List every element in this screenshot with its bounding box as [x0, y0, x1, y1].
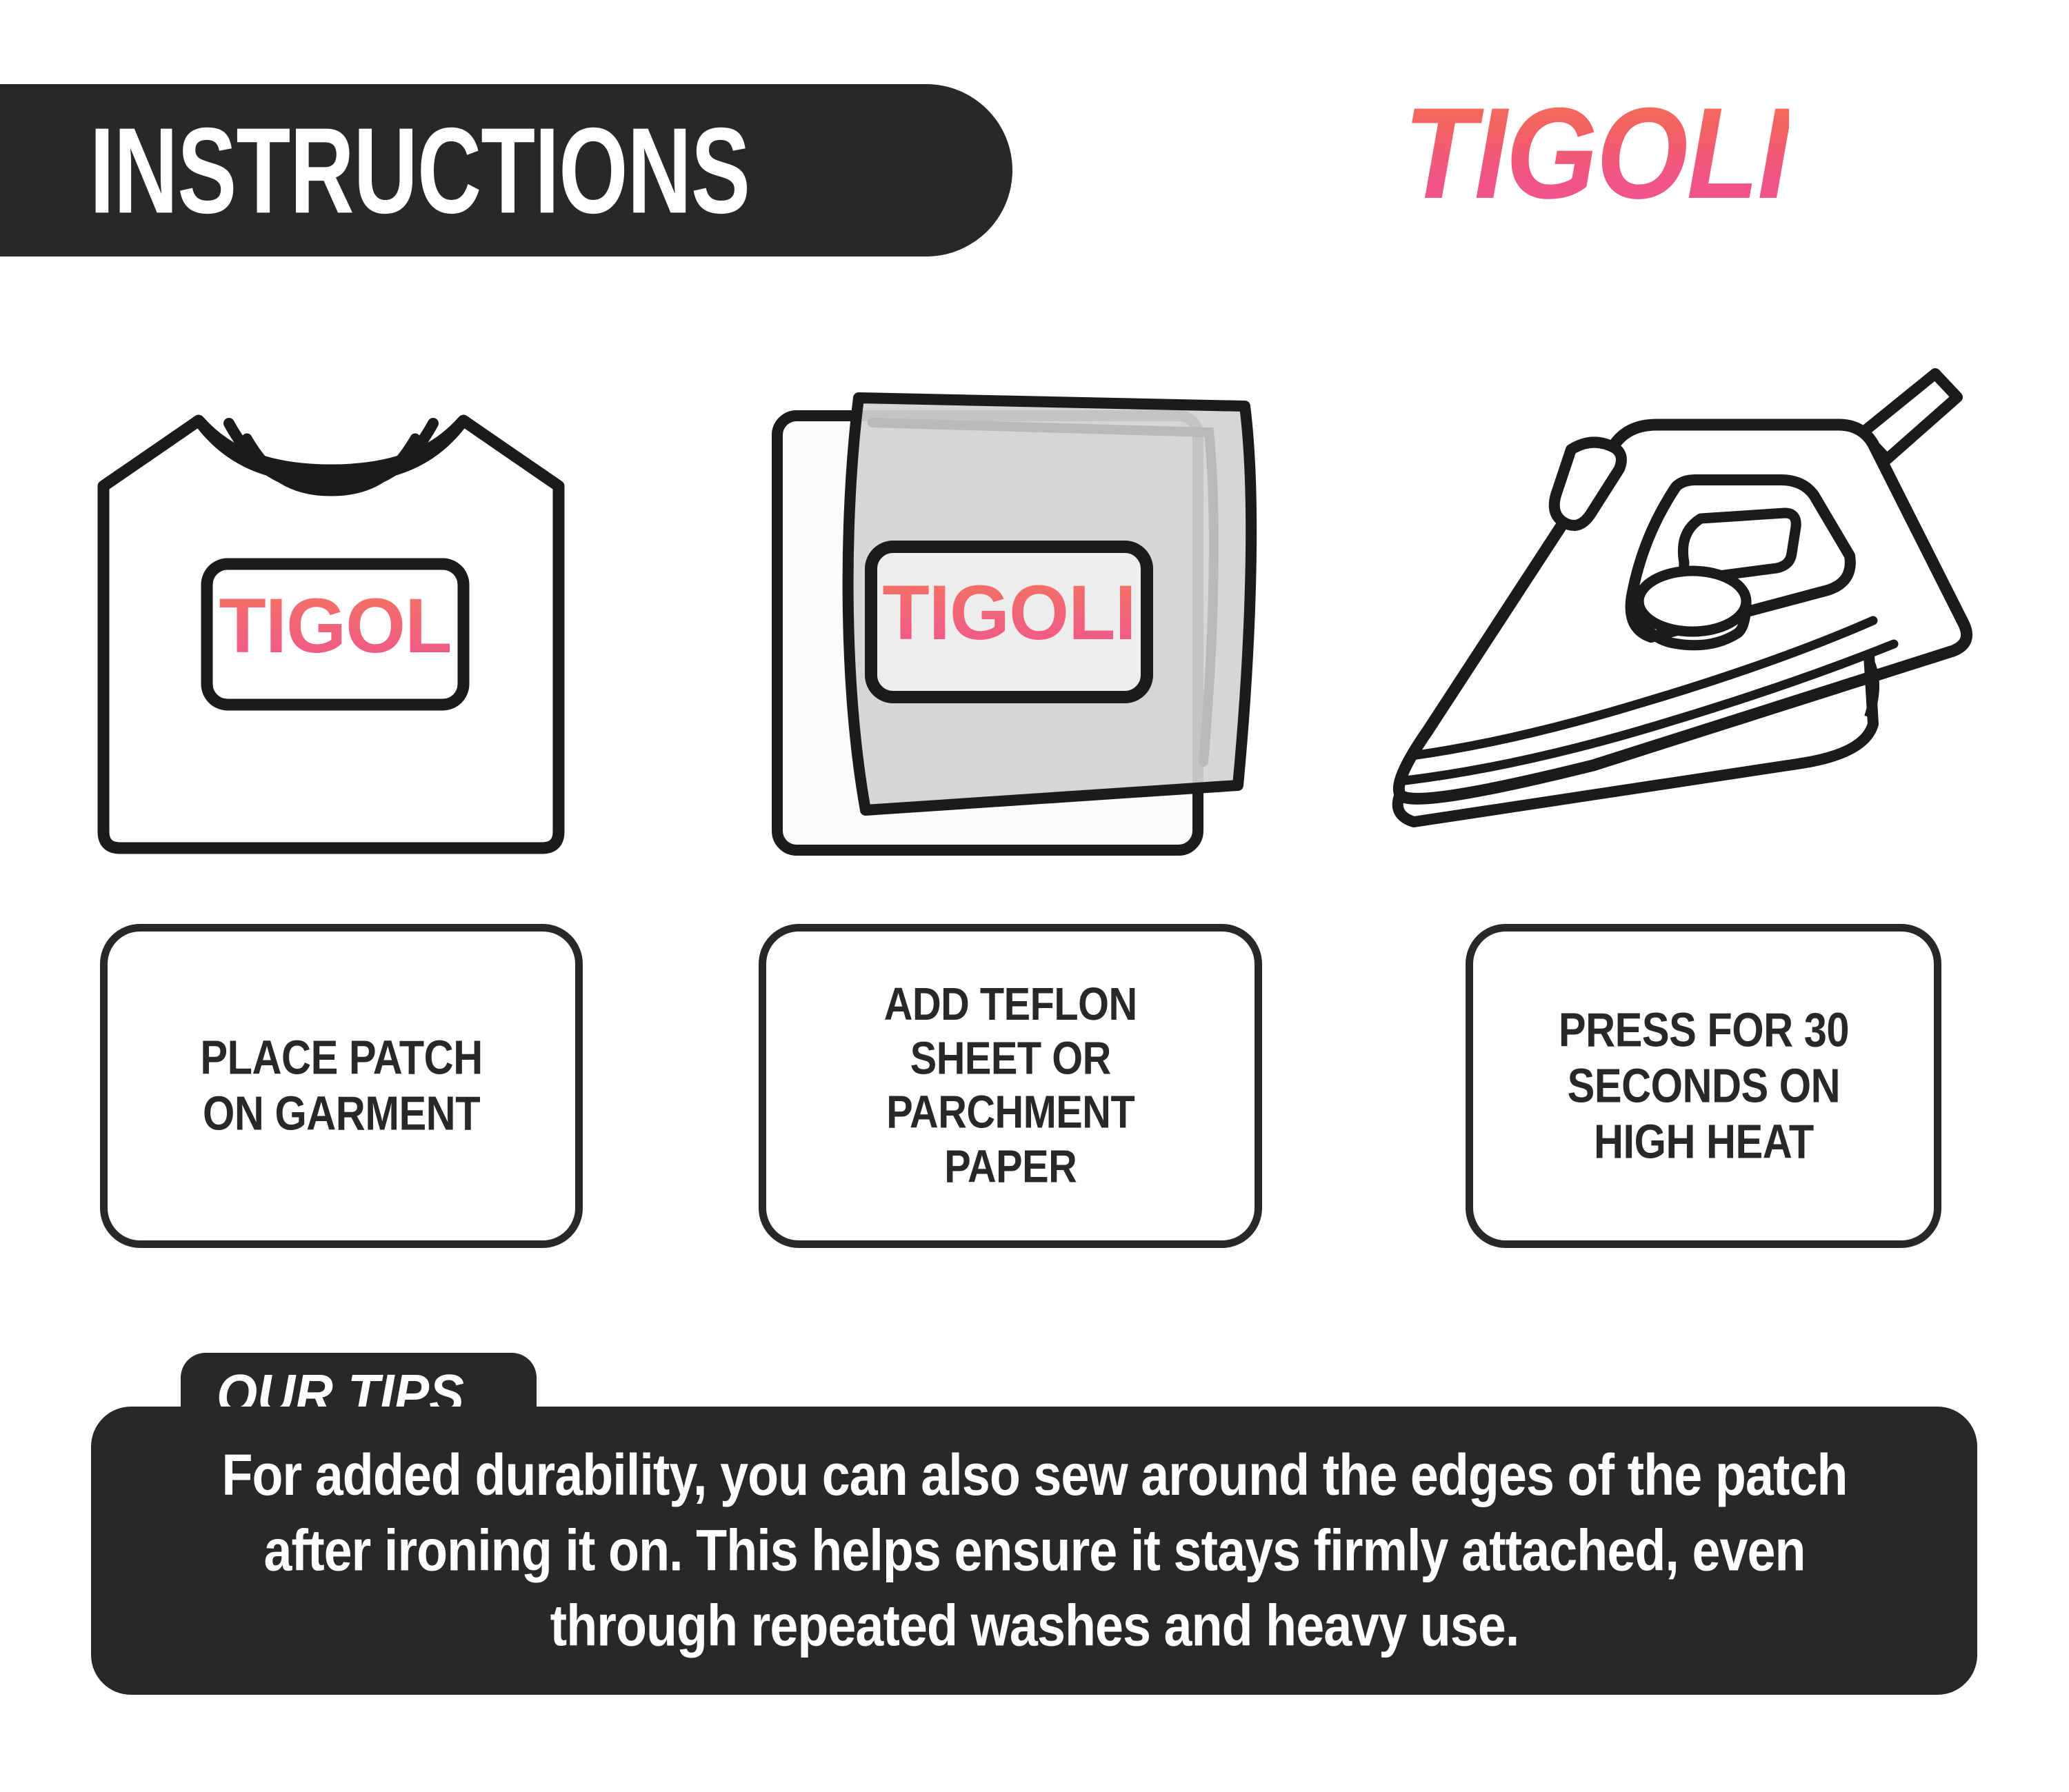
- iron-illustration: [1386, 359, 2014, 841]
- caption-row: PLACE PATCH ON GARMENT ADD TEFLON SHEET …: [0, 924, 2069, 1269]
- header-banner: INSTRUCTIONS: [0, 84, 1012, 256]
- caption-text: PLACE PATCH ON GARMENT: [190, 1030, 492, 1142]
- caption-box-add-teflon[interactable]: ADD TEFLON SHEET OR PARCHMENT PAPER: [759, 924, 1262, 1248]
- instruction-card: INSTRUCTIONS TIGOLI: [0, 0, 2069, 1792]
- sheet-patch-label: TIGOLI: [882, 570, 1135, 656]
- brand-logo: TIGOLI: [1403, 88, 1789, 218]
- caption-box-press-heat[interactable]: PRESS FOR 30 SECONDS ON HIGH HEAT: [1466, 924, 1941, 1248]
- caption-text: PRESS FOR 30 SECONDS ON HIGH HEAT: [1548, 1003, 1859, 1170]
- illustration-row: TIGOL TIGOLI: [0, 345, 2069, 883]
- tips-body-text: For added durability, you can also sew a…: [210, 1438, 1859, 1664]
- tshirt-illustration: TIGOL: [76, 365, 586, 876]
- page-title: INSTRUCTIONS: [90, 110, 750, 232]
- teflon-sheet-illustration: TIGOLI: [762, 362, 1286, 886]
- tshirt-patch-label: TIGOL: [219, 583, 451, 669]
- caption-text: ADD TEFLON SHEET OR PARCHMENT PAPER: [874, 978, 1148, 1194]
- tips-panel: For added durability, you can also sew a…: [91, 1407, 1977, 1695]
- caption-box-place-patch[interactable]: PLACE PATCH ON GARMENT: [100, 924, 583, 1248]
